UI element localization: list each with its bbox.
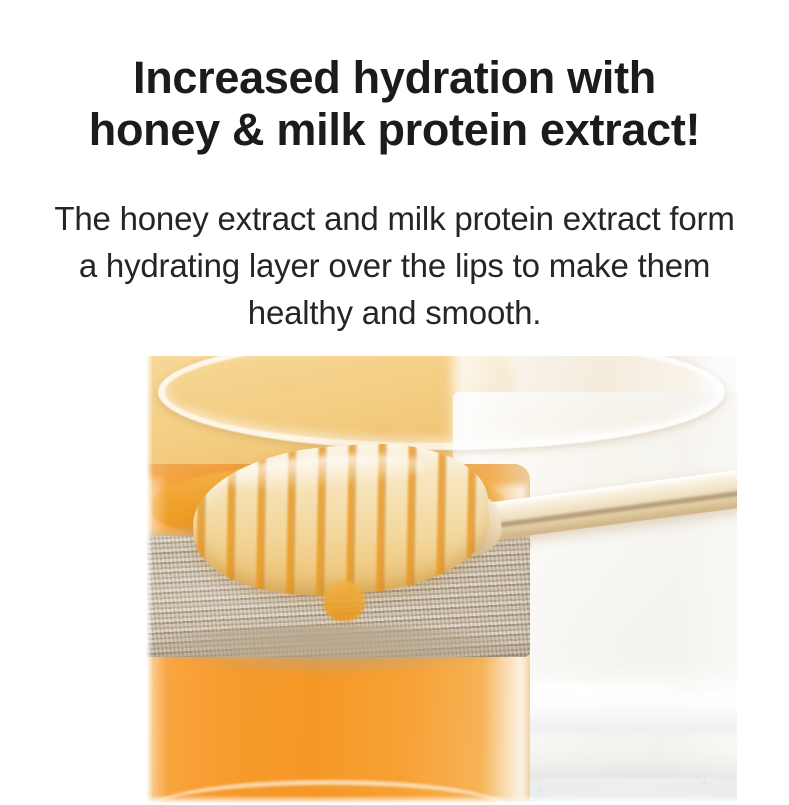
page-title: Increased hydration with honey & milk pr… bbox=[0, 52, 789, 156]
headline-line-2: honey & milk protein extract! bbox=[0, 104, 789, 156]
honey-drip bbox=[323, 581, 364, 621]
honey-dipper-head bbox=[188, 436, 493, 604]
twine-bottom-edge bbox=[146, 625, 530, 683]
headline-line-1: Increased hydration with bbox=[0, 52, 789, 104]
description-line-2: a hydrating layer over the lips to make … bbox=[0, 242, 789, 289]
description-line-1: The honey extract and milk protein extra… bbox=[0, 195, 789, 242]
product-benefit-panel: Increased hydration with honey & milk pr… bbox=[0, 0, 789, 789]
honey-jar-photo bbox=[146, 356, 737, 805]
photo-composition bbox=[146, 356, 737, 805]
photo-left-fade bbox=[146, 356, 153, 805]
description-line-3: healthy and smooth. bbox=[0, 289, 789, 336]
description-text: The honey extract and milk protein extra… bbox=[0, 195, 789, 336]
photo-bottom-fade bbox=[146, 795, 737, 805]
